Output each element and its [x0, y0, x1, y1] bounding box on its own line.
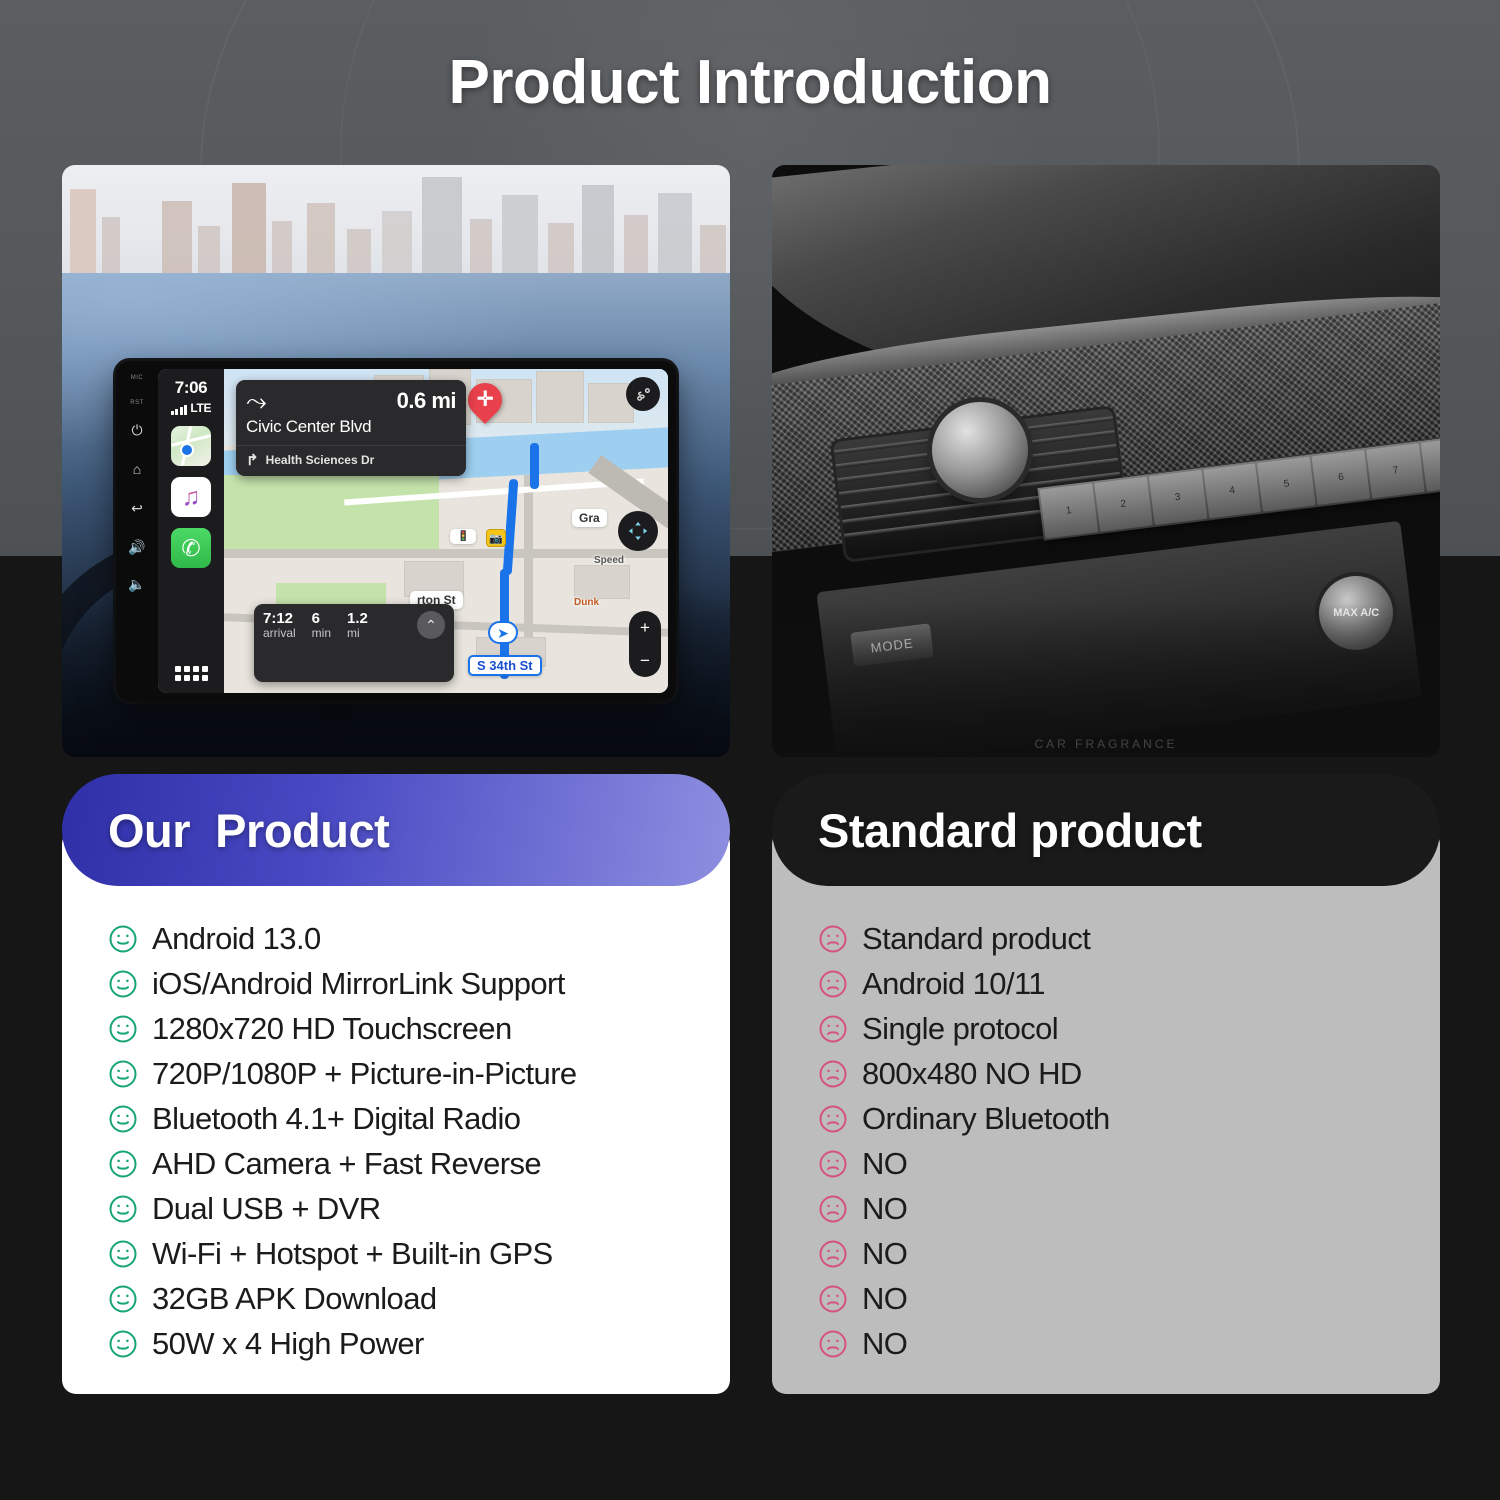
eta-duration-label: min: [312, 627, 331, 641]
route-icon[interactable]: [626, 377, 660, 411]
list-item: 50W x 4 High Power: [62, 1321, 730, 1366]
carrier-label: LTE: [190, 401, 211, 415]
photo-vignette: [772, 603, 1440, 757]
map-zoom-controls[interactable]: + −: [629, 611, 661, 677]
app-grid-icon[interactable]: [175, 666, 208, 681]
eta-arrival-label: arrival: [263, 627, 296, 641]
map-brand-speed: Speed: [594, 555, 624, 566]
list-item: AHD Camera + Fast Reverse: [62, 1141, 730, 1186]
list-item: 1280x720 HD Touchscreen: [62, 1006, 730, 1051]
eta-arrival: 7:12 arrival: [263, 611, 296, 641]
smiley-face-icon: [108, 1149, 138, 1179]
feature-label: NO: [862, 1236, 907, 1272]
map-building: [574, 565, 630, 599]
column-standard-product: 1 2 3 4 5 6 7 8 MODE MAX A/C CAR FRAGRAN…: [772, 165, 1440, 1394]
building: [422, 177, 462, 281]
nav-street-name: Civic Center Blvd: [236, 416, 466, 445]
feature-label: Wi-Fi + Hotspot + Built-in GPS: [152, 1236, 553, 1272]
sad-face-icon: [818, 1149, 848, 1179]
navigation-card: ⤳ 0.6 mi Civic Center Blvd ↱ Health Scie…: [236, 380, 466, 476]
smiley-face-icon: [108, 1194, 138, 1224]
reset-label: RST: [130, 400, 144, 406]
eta-distance-label: mi: [347, 627, 368, 641]
smiley-face-icon: [108, 1014, 138, 1044]
list-item: Android 10/11: [772, 961, 1440, 1006]
building: [162, 201, 192, 281]
list-item: 800x480 NO HD: [772, 1051, 1440, 1096]
list-item: Standard product: [772, 916, 1440, 961]
smiley-face-icon: [108, 1239, 138, 1269]
feature-label: iOS/Android MirrorLink Support: [152, 966, 565, 1002]
right-product-photo: 1 2 3 4 5 6 7 8 MODE MAX A/C CAR FRAGRAN…: [772, 165, 1440, 757]
building: [272, 221, 292, 281]
smiley-face-icon: [108, 924, 138, 954]
list-item: NO: [772, 1276, 1440, 1321]
map-street-right: Gra: [572, 509, 607, 527]
building: [624, 215, 648, 281]
sad-face-icon: [818, 1194, 848, 1224]
feature-label: NO: [862, 1281, 907, 1317]
building: [232, 183, 266, 281]
smiley-face-icon: [108, 1059, 138, 1089]
nav-next-street: Health Sciences Dr: [266, 453, 375, 467]
page-title: Product Introduction: [0, 47, 1500, 118]
pan-icon[interactable]: [618, 511, 658, 551]
building: [470, 219, 492, 281]
eta-arrival-value: 7:12: [263, 611, 296, 627]
smiley-face-icon: [108, 1284, 138, 1314]
eta-duration: 6 min: [312, 611, 331, 641]
phone-icon[interactable]: ✆: [171, 528, 211, 568]
feature-label: Android 13.0: [152, 921, 321, 957]
building: [102, 217, 120, 281]
navigation-arrow-icon: ➤: [488, 621, 518, 644]
sad-face-icon: [818, 1239, 848, 1269]
list-item: Single protocol: [772, 1006, 1440, 1051]
sad-face-icon: [818, 1014, 848, 1044]
list-item: iOS/Android MirrorLink Support: [62, 961, 730, 1006]
building: [502, 195, 538, 281]
preset-button[interactable]: 2: [1094, 477, 1152, 532]
head-unit-screen[interactable]: Center Blvd Children's Hospital of Phila…: [158, 369, 668, 693]
list-item: 720P/1080P + Picture-in-Picture: [62, 1051, 730, 1096]
maps-icon[interactable]: [171, 426, 211, 466]
list-item: NO: [772, 1321, 1440, 1366]
smiley-face-icon: [108, 1104, 138, 1134]
preset-button[interactable]: 6: [1312, 450, 1370, 505]
map-street-bottom: S 34th St: [468, 655, 542, 676]
carplay-dock: 7:06 LTE ♫ ✆: [158, 369, 224, 693]
standard-product-header: Standard product: [772, 774, 1440, 886]
power-icon[interactable]: ⏻: [131, 423, 142, 437]
list-item: Bluetooth 4.1+ Digital Radio: [62, 1096, 730, 1141]
map-brand-dunkin: Dunk: [574, 597, 599, 608]
feature-label: NO: [862, 1326, 907, 1362]
speed-camera-icon: 📷: [486, 529, 506, 547]
carplay-clock: 7:06: [175, 378, 207, 398]
list-item: NO: [772, 1141, 1440, 1186]
feature-label: 800x480 NO HD: [862, 1056, 1082, 1092]
preset-button[interactable]: 7: [1367, 443, 1425, 498]
list-item: NO: [772, 1186, 1440, 1231]
feature-label: 50W x 4 High Power: [152, 1326, 424, 1362]
sad-face-icon: [818, 1329, 848, 1359]
sad-face-icon: [818, 924, 848, 954]
photo-watermark: CAR FRAGRANCE: [772, 737, 1440, 751]
turn-right-small-icon: ↱: [246, 451, 259, 469]
chevron-up-icon[interactable]: ⌃: [417, 611, 445, 639]
smiley-face-icon: [108, 1329, 138, 1359]
zoom-in-button[interactable]: +: [640, 618, 650, 638]
preset-button[interactable]: 3: [1149, 470, 1207, 525]
left-product-photo: MIC RST ⏻ ⌂ ↩ 🔊 🔈: [62, 165, 730, 757]
feature-label: NO: [862, 1191, 907, 1227]
list-item: 32GB APK Download: [62, 1276, 730, 1321]
home-icon[interactable]: ⌂: [133, 462, 141, 476]
our-product-feature-panel: Android 13.0 iOS/Android MirrorLink Supp…: [62, 830, 730, 1394]
list-item: NO: [772, 1231, 1440, 1276]
preset-button[interactable]: 1: [1040, 483, 1098, 538]
back-icon[interactable]: ↩: [131, 501, 143, 515]
feature-label: AHD Camera + Fast Reverse: [152, 1146, 541, 1182]
feature-label: Bluetooth 4.1+ Digital Radio: [152, 1101, 520, 1137]
building: [307, 203, 335, 281]
map-building: [536, 371, 584, 423]
vent-knob: [932, 402, 1028, 498]
traffic-light-icon: 🚦: [450, 529, 476, 544]
feature-label: NO: [862, 1146, 907, 1182]
volume-up-icon[interactable]: 🔊: [128, 540, 145, 554]
building: [658, 193, 692, 281]
nav-distance: 0.6 mi: [397, 388, 456, 414]
bmw-console: 1 2 3 4 5 6 7 8 MODE MAX A/C CAR FRAGRAN…: [772, 165, 1440, 757]
sad-face-icon: [818, 1059, 848, 1089]
map-route: [530, 443, 539, 489]
feature-label: Standard product: [862, 921, 1090, 957]
list-item: Ordinary Bluetooth: [772, 1096, 1440, 1141]
eta-duration-value: 6: [312, 611, 331, 627]
eta-card[interactable]: 7:12 arrival 6 min 1.2 mi ⌃: [254, 604, 454, 682]
volume-down-icon[interactable]: 🔈: [128, 577, 145, 591]
our-product-header: Our Product: [62, 774, 730, 886]
list-item: Dual USB + DVR: [62, 1186, 730, 1231]
building: [582, 185, 614, 281]
sad-face-icon: [818, 1284, 848, 1314]
feature-label: Ordinary Bluetooth: [862, 1101, 1110, 1137]
smiley-face-icon: [108, 969, 138, 999]
city-skyline: [62, 165, 730, 281]
feature-label: Dual USB + DVR: [152, 1191, 381, 1227]
feature-label: 32GB APK Download: [152, 1281, 436, 1317]
music-icon[interactable]: ♫: [171, 477, 211, 517]
turn-right-icon: ⤳: [246, 388, 267, 414]
list-item: Wi-Fi + Hotspot + Built-in GPS: [62, 1231, 730, 1276]
sad-face-icon: [818, 969, 848, 999]
preset-button[interactable]: 4: [1203, 463, 1261, 518]
feature-label: Android 10/11: [862, 966, 1045, 1002]
feature-label: Single protocol: [862, 1011, 1058, 1047]
sad-face-icon: [818, 1104, 848, 1134]
preset-button[interactable]: 5: [1258, 457, 1316, 512]
zoom-out-button[interactable]: −: [640, 651, 650, 671]
eta-distance: 1.2 mi: [347, 611, 368, 641]
building: [70, 189, 96, 281]
standard-product-feature-panel: Standard product Android 10/11 Single pr…: [772, 830, 1440, 1394]
eta-distance-value: 1.2: [347, 611, 368, 627]
column-our-product: MIC RST ⏻ ⌂ ↩ 🔊 🔈: [62, 165, 730, 1394]
signal-bars-icon: [171, 405, 188, 415]
map-park: [224, 475, 439, 553]
building: [382, 211, 412, 281]
feature-label: 720P/1080P + Picture-in-Picture: [152, 1056, 577, 1092]
head-unit: MIC RST ⏻ ⌂ ↩ 🔊 🔈: [116, 361, 676, 701]
feature-label: 1280x720 HD Touchscreen: [152, 1011, 512, 1047]
head-unit-bezel: MIC RST ⏻ ⌂ ↩ 🔊 🔈: [116, 361, 158, 701]
mic-label: MIC: [131, 375, 144, 381]
list-item: Android 13.0: [62, 916, 730, 961]
